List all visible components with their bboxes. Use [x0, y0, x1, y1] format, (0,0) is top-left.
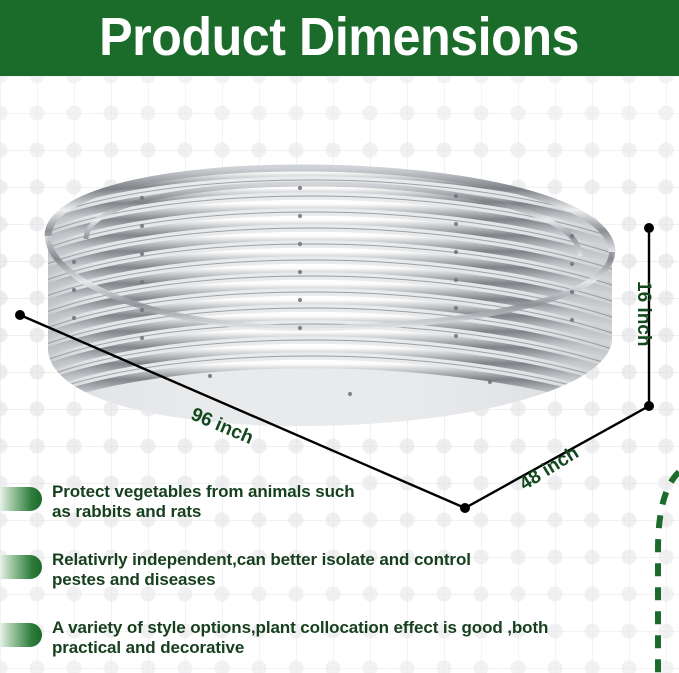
list-item: Protect vegetables from animals such as … — [0, 482, 560, 550]
bullet-pill-icon — [0, 487, 42, 511]
bullet-pill-icon — [0, 623, 42, 647]
feature-list: Protect vegetables from animals such as … — [0, 482, 560, 673]
bullet-pill-icon — [0, 555, 42, 579]
product-dimensions-infographic: Product Dimensions — [0, 0, 679, 673]
header-banner: Product Dimensions — [0, 0, 679, 76]
bed-outer-wall — [0, 156, 679, 450]
feature-text: Protect vegetables from animals such as … — [52, 482, 355, 522]
page-title: Product Dimensions — [100, 9, 580, 65]
feature-text: A variety of style options,plant colloca… — [52, 618, 548, 658]
dimension-label-height: 16 inch — [632, 281, 654, 346]
feature-text: Relativrly independent,can better isolat… — [52, 550, 471, 590]
list-item: Relativrly independent,can better isolat… — [0, 550, 560, 618]
product-illustration — [0, 76, 679, 536]
list-item: A variety of style options,plant colloca… — [0, 618, 560, 673]
